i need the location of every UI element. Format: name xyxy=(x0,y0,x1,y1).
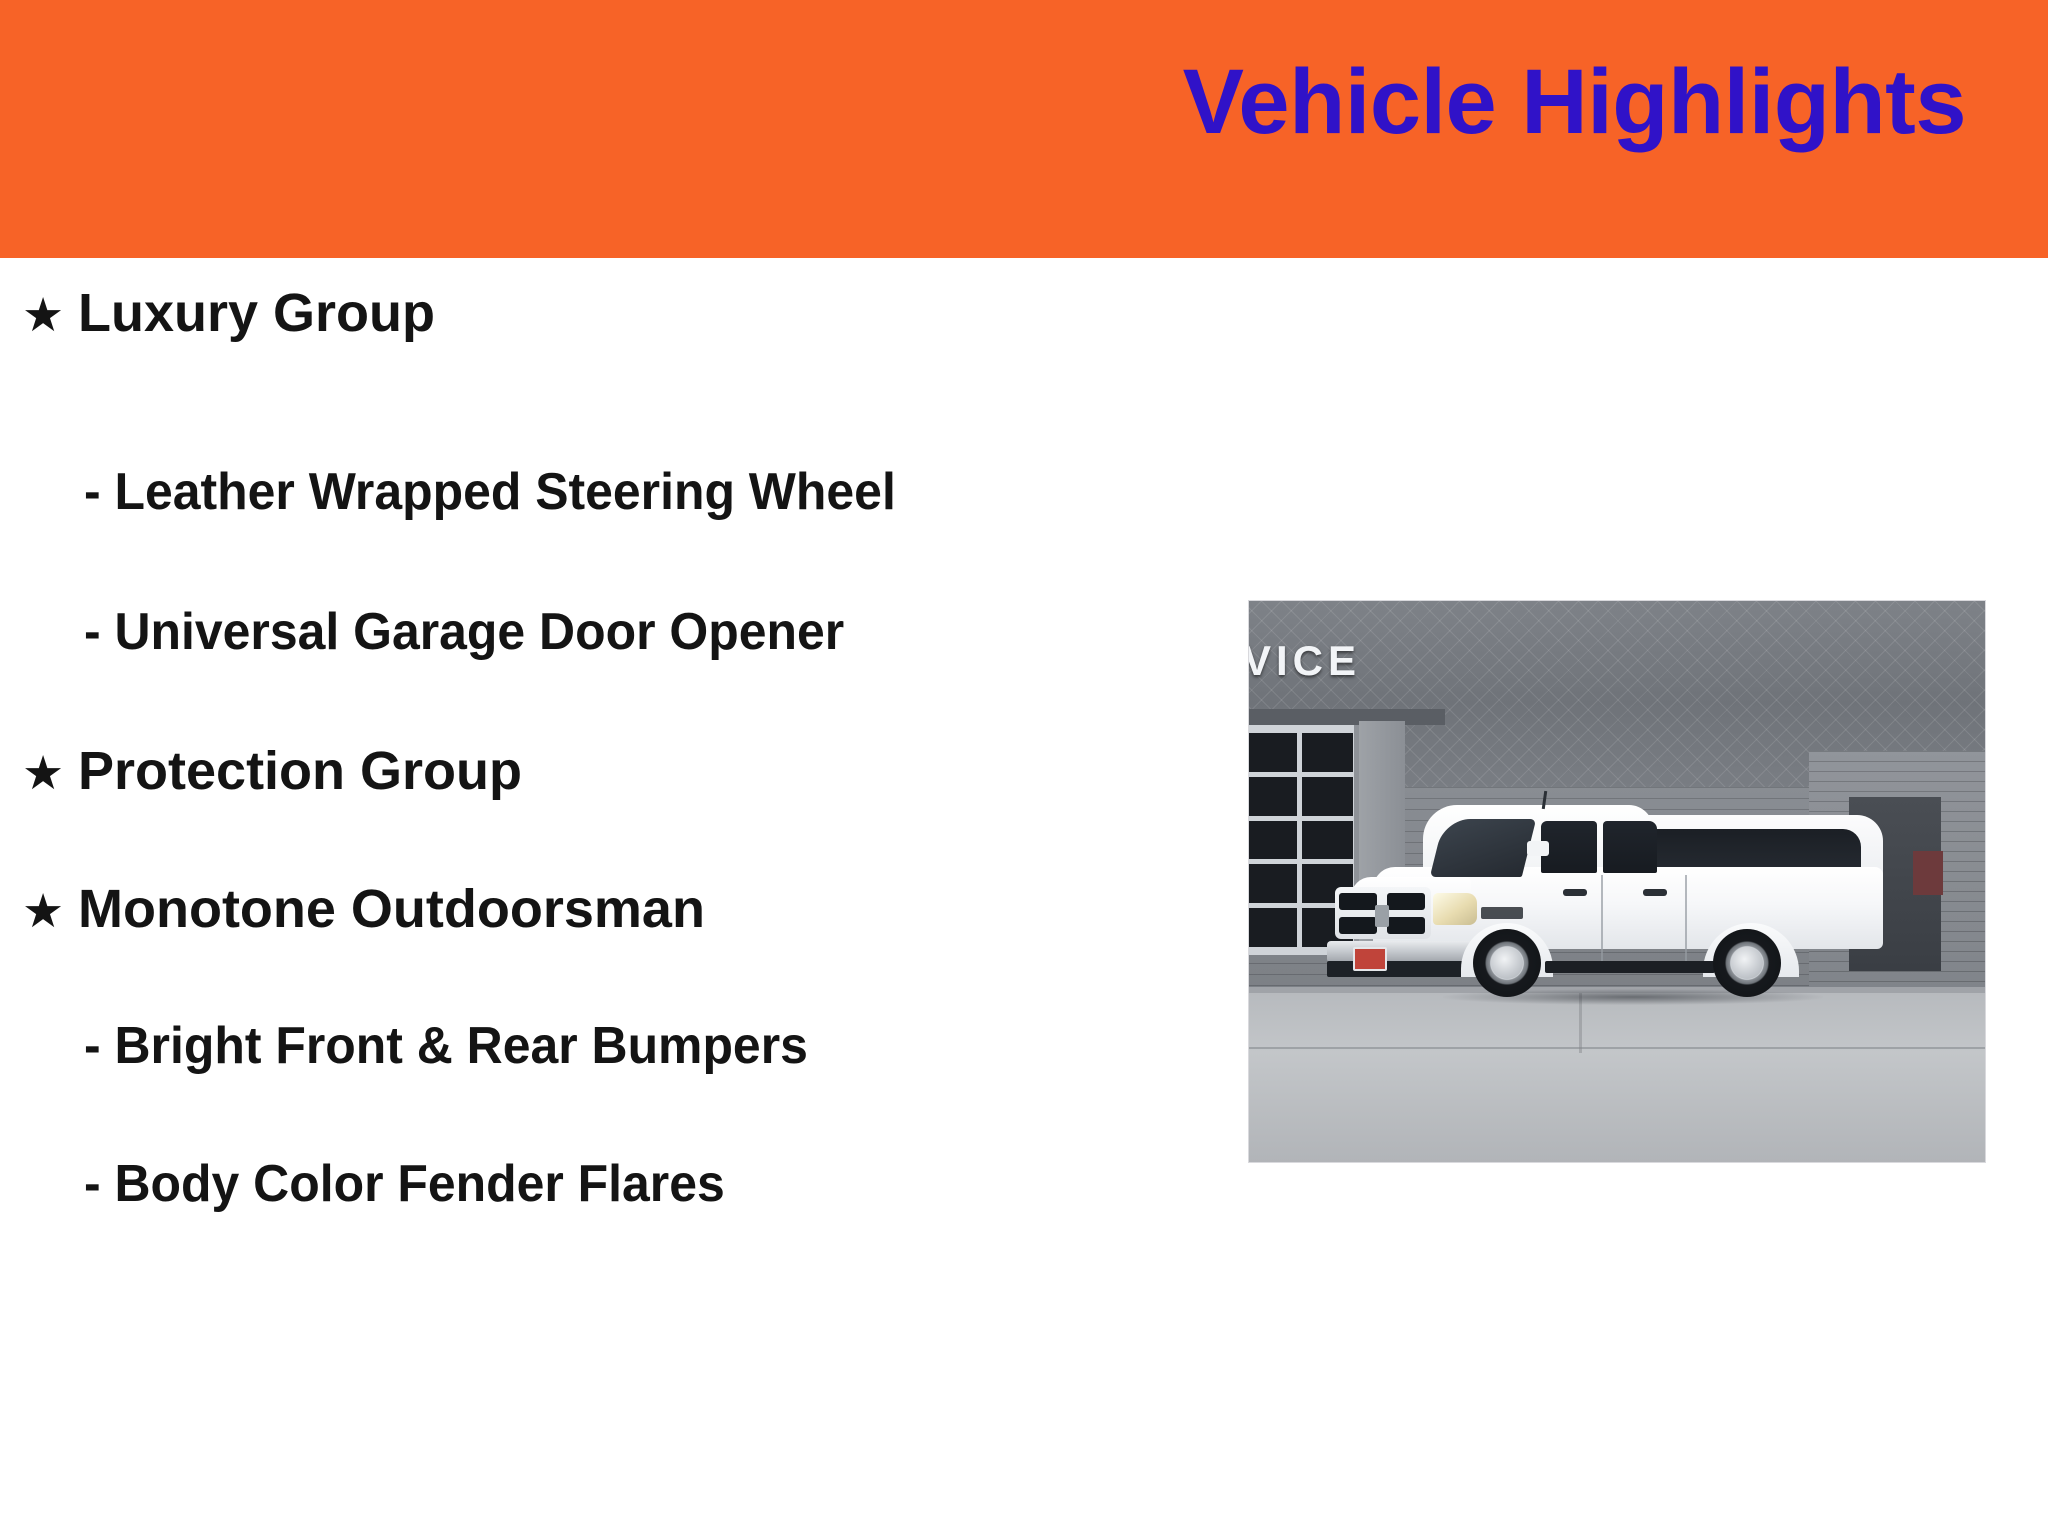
rear-hubcap xyxy=(1731,947,1763,979)
list-item: ★ Monotone Outdoorsman xyxy=(22,882,705,936)
grille-slot xyxy=(1339,917,1377,934)
rear-door-window xyxy=(1603,821,1657,873)
door-handle xyxy=(1563,889,1587,896)
running-board xyxy=(1545,961,1715,973)
front-door-window xyxy=(1541,821,1597,873)
list-item-label: - Universal Garage Door Opener xyxy=(84,606,844,658)
license-plate xyxy=(1353,947,1387,971)
list-item-label: - Bright Front & Rear Bumpers xyxy=(84,1020,808,1072)
glass-pane xyxy=(1248,733,1297,772)
ram-badge xyxy=(1375,905,1389,927)
front-hubcap xyxy=(1491,947,1523,979)
pavement-seam xyxy=(1249,1047,1986,1049)
building-red-object xyxy=(1913,851,1943,895)
list-item-label: Protection Group xyxy=(78,744,522,798)
header-band: Vehicle Highlights xyxy=(0,0,2048,258)
door-seam xyxy=(1685,875,1687,961)
headlight xyxy=(1433,893,1477,925)
vehicle-photo: VICE xyxy=(1248,600,1986,1163)
star-bullet-icon: ★ xyxy=(22,291,78,338)
side-mirror xyxy=(1527,841,1549,856)
star-bullet-icon: ★ xyxy=(22,749,78,796)
building-fascia xyxy=(1249,709,1445,725)
slide-canvas: Vehicle Highlights ★ Luxury Group - Leat… xyxy=(0,0,2048,1536)
glass-pane xyxy=(1248,908,1297,947)
pickup-truck xyxy=(1313,801,1913,1031)
list-item: - Bright Front & Rear Bumpers xyxy=(84,1020,838,1072)
page-title: Vehicle Highlights xyxy=(1183,56,1966,148)
glass-pane xyxy=(1302,733,1354,772)
list-item-label: Monotone Outdoorsman xyxy=(78,882,705,936)
grille-slot xyxy=(1387,917,1425,934)
door-seam xyxy=(1601,875,1603,961)
grille-slot xyxy=(1339,893,1377,910)
glass-pane xyxy=(1248,864,1297,903)
list-item-label: - Leather Wrapped Steering Wheel xyxy=(84,466,896,518)
list-item: ★ Protection Group xyxy=(22,744,522,798)
glass-pane xyxy=(1248,821,1297,860)
list-item: - Body Color Fender Flares xyxy=(84,1158,751,1210)
list-item-label: - Body Color Fender Flares xyxy=(84,1158,725,1210)
highlights-list: ★ Luxury Group - Leather Wrapped Steerin… xyxy=(0,258,1230,1536)
hemi-badge xyxy=(1481,907,1523,919)
glass-pane xyxy=(1248,777,1297,816)
star-bullet-icon: ★ xyxy=(22,887,78,934)
service-sign-text: VICE xyxy=(1248,637,1361,685)
grille-slot xyxy=(1387,893,1425,910)
list-item: - Universal Garage Door Opener xyxy=(84,606,876,658)
door-handle xyxy=(1643,889,1667,896)
list-item-label: Luxury Group xyxy=(78,286,435,340)
list-item: - Leather Wrapped Steering Wheel xyxy=(84,466,930,518)
lower-air-dam xyxy=(1327,961,1477,977)
list-item: ★ Luxury Group xyxy=(22,286,435,340)
